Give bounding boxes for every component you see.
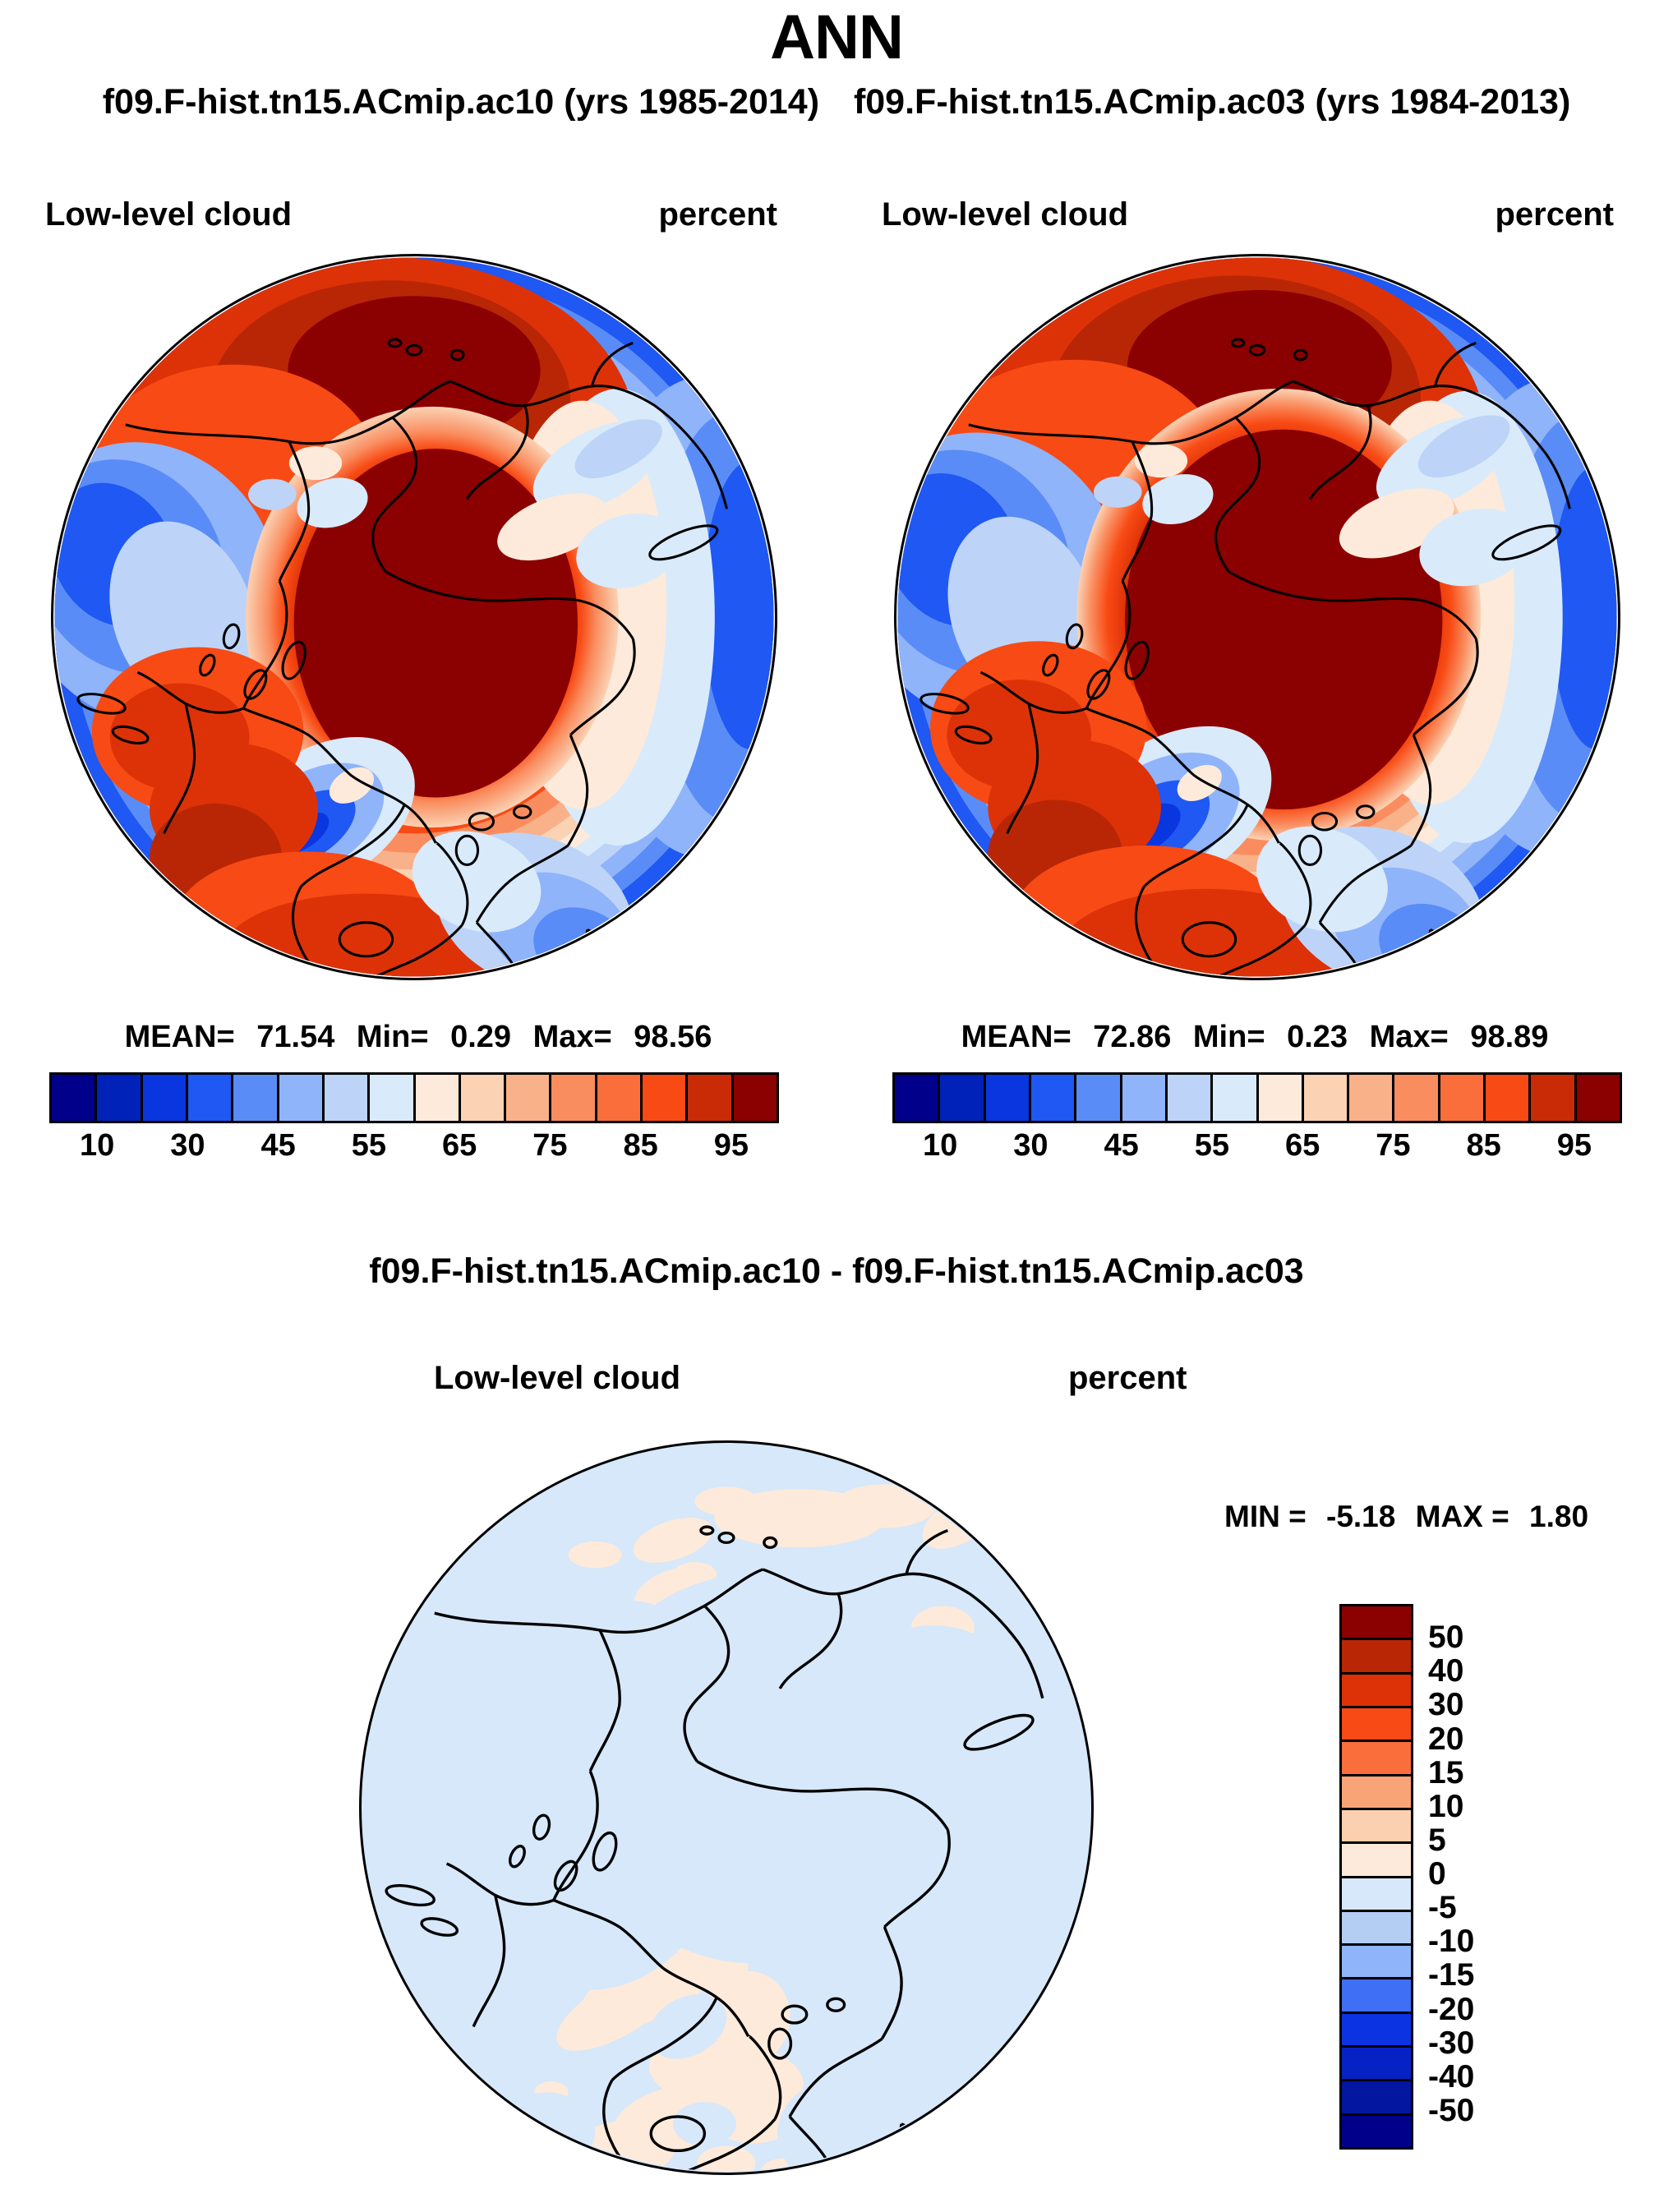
difference-header: Low-level cloud percent (0, 1360, 1673, 1409)
map-fill-difference (362, 1443, 1091, 2173)
panel-right-stats: MEAN= 72.86 Min= 0.23 Max= 98.89 (836, 1020, 1673, 1066)
colorbar-cell-11 (551, 1075, 597, 1121)
diff-colorbar-tick-20: 20 (1428, 1721, 1463, 1758)
colorbar-cell-4 (233, 1075, 279, 1121)
colorbar-cell-2 (986, 1075, 1031, 1121)
colorbar-tick-55: 55 (1195, 1128, 1229, 1164)
colorbar-cell-8 (416, 1075, 461, 1121)
diff-colorbar-cell-0 (1342, 1606, 1411, 1640)
max-value: 98.56 (634, 1020, 712, 1055)
colorbar-cell-4 (1076, 1075, 1122, 1121)
diff-colorbar-cell-6 (1342, 1810, 1411, 1844)
colorbar-tick-65: 65 (1285, 1128, 1320, 1164)
diff-colorbar-cell-8 (1342, 1878, 1411, 1912)
colorbar-cell-5 (1122, 1075, 1168, 1121)
panel-left-map-area (0, 239, 836, 1020)
colorbar-tick-95: 95 (1557, 1128, 1592, 1164)
colorbar-tick-85: 85 (623, 1128, 657, 1164)
colorbar-tick-45: 45 (260, 1128, 295, 1164)
max-label: Max= (1370, 1020, 1449, 1055)
diff-colorbar-tick-0: 0 (1428, 1856, 1446, 1892)
colorbar-cell-12 (1440, 1075, 1486, 1121)
difference-unit-label: percent (1068, 1360, 1187, 1397)
min-label: Min= (1193, 1020, 1265, 1055)
colorbar-tick-95: 95 (714, 1128, 749, 1164)
diff-colorbar-cell-5 (1342, 1777, 1411, 1810)
difference-minmax: MIN = -5.18 MAX = 1.80 (1224, 1500, 1588, 1534)
colorbar-cell-3 (188, 1075, 233, 1121)
colorbar-cell-1 (940, 1075, 985, 1121)
max-value: 98.89 (1470, 1020, 1548, 1055)
mean-label: MEAN= (961, 1020, 1072, 1055)
colorbar-cell-14 (1531, 1075, 1576, 1121)
diff-colorbar-tick--30: -30 (1428, 2025, 1474, 2062)
colorbar-cell-6 (1168, 1075, 1213, 1121)
difference-variable-label: Low-level cloud (434, 1360, 680, 1397)
diff-colorbar-tick-10: 10 (1428, 1789, 1463, 1825)
polar-map-difference[interactable] (359, 1440, 1094, 2175)
mean-label: MEAN= (125, 1020, 235, 1055)
diff-colorbar-tick-5: 5 (1428, 1823, 1446, 1859)
colorbar-cell-3 (1031, 1075, 1076, 1121)
panel-left-variable-label: Low-level cloud (45, 196, 292, 233)
colorbar-difference-ticks: 50403020151050-5-10-15-20-30-40-50 (1428, 1604, 1576, 2145)
diff-colorbar-cell-3 (1342, 1708, 1411, 1742)
colorbar-tick-45: 45 (1104, 1128, 1138, 1164)
colorbar-cell-10 (506, 1075, 551, 1121)
diff-colorbar-tick-40: 40 (1428, 1653, 1463, 1689)
difference-title: f09.F-hist.tn15.ACmip.ac10 - f09.F-hist.… (0, 1251, 1673, 1292)
colorbar-cell-7 (1213, 1075, 1258, 1121)
panel-right-header: Low-level cloud percent (836, 185, 1673, 239)
colorbar-cell-1 (97, 1075, 142, 1121)
diff-colorbar-cell-1 (1342, 1640, 1411, 1674)
case-name-left: f09.F-hist.tn15.ACmip.ac10 (yrs 1985-201… (103, 82, 819, 122)
diff-colorbar-cell-15 (1342, 2116, 1411, 2147)
panel-left-header: Low-level cloud percent (0, 185, 836, 239)
colorbar-cell-8 (1259, 1075, 1304, 1121)
colorbar-tick-30: 30 (1013, 1128, 1048, 1164)
diff-colorbar-cell-10 (1342, 1946, 1411, 1979)
difference-map-area (359, 1440, 1094, 2175)
colorbar-cell-6 (325, 1075, 370, 1121)
diff-colorbar-tick-30: 30 (1428, 1687, 1463, 1723)
diff-min-value: -5.18 (1326, 1500, 1395, 1534)
diff-max-label: MAX = (1416, 1500, 1509, 1534)
diff-colorbar-cell-4 (1342, 1742, 1411, 1776)
diff-colorbar-cell-7 (1342, 1844, 1411, 1878)
panel-left-colorbar-area: 1030455565758595 (0, 1066, 836, 1173)
colorbar-cell-14 (688, 1075, 733, 1121)
colorbar-cell-13 (1486, 1075, 1531, 1121)
colorbar-cell-11 (1394, 1075, 1440, 1121)
colorbar-tick-65: 65 (442, 1128, 477, 1164)
diff-colorbar-cell-13 (1342, 2048, 1411, 2081)
map-fill-right (896, 256, 1618, 978)
case-name-right: f09.F-hist.tn15.ACmip.ac03 (yrs 1984-201… (854, 82, 1570, 122)
colorbar-tick-30: 30 (170, 1128, 205, 1164)
panel-right-unit-label: percent (1496, 196, 1615, 233)
colorbar-tick-10: 10 (80, 1128, 114, 1164)
colorbar-tick-55: 55 (352, 1128, 386, 1164)
diff-colorbar-tick--15: -15 (1428, 1957, 1474, 1993)
diff-min-label: MIN = (1224, 1500, 1307, 1534)
diff-colorbar-tick--50: -50 (1428, 2093, 1474, 2129)
mean-value: 71.54 (256, 1020, 334, 1055)
polar-map-right-svg (896, 256, 1618, 978)
map-panel-right: Low-level cloud percent (836, 185, 1673, 1173)
diff-colorbar-cell-11 (1342, 1979, 1411, 2013)
colorbar-cell-12 (597, 1075, 643, 1121)
mean-value: 72.86 (1093, 1020, 1171, 1055)
colorbar-cell-2 (143, 1075, 188, 1121)
colorbar-cell-0 (52, 1075, 97, 1121)
colorbar-cell-10 (1349, 1075, 1394, 1121)
max-label: Max= (533, 1020, 612, 1055)
colorbar-cell-5 (279, 1075, 325, 1121)
polar-map-left[interactable] (51, 254, 777, 980)
min-value: 0.29 (450, 1020, 511, 1055)
panel-right-map-area (836, 239, 1673, 1020)
diff-colorbar-cell-9 (1342, 1912, 1411, 1946)
diff-colorbar-tick--40: -40 (1428, 2059, 1474, 2095)
diff-colorbar-tick--20: -20 (1428, 1992, 1474, 2028)
polar-map-right[interactable] (894, 254, 1620, 980)
page-title: ANN (0, 2, 1673, 73)
colorbar-cell-9 (1304, 1075, 1349, 1121)
min-label: Min= (357, 1020, 429, 1055)
colorbar-tick-85: 85 (1466, 1128, 1500, 1164)
colorbar-cell-7 (370, 1075, 415, 1121)
panel-left-unit-label: percent (659, 196, 778, 233)
diff-colorbar-tick-50: 50 (1428, 1620, 1463, 1656)
colorbar-tick-75: 75 (532, 1128, 567, 1164)
colorbar-cell-13 (643, 1075, 688, 1121)
map-panel-left: Low-level cloud percent (0, 185, 836, 1173)
diff-colorbar-cell-12 (1342, 2014, 1411, 2048)
panel-right-variable-label: Low-level cloud (882, 196, 1128, 233)
map-fill-left (53, 256, 775, 978)
diff-colorbar-tick--5: -5 (1428, 1890, 1457, 1926)
min-value: 0.23 (1287, 1020, 1348, 1055)
panel-left-stats: MEAN= 71.54 Min= 0.29 Max= 98.56 (0, 1020, 836, 1066)
colorbar-right[interactable] (892, 1072, 1622, 1123)
colorbar-left-ticks: 1030455565758595 (49, 1128, 779, 1168)
panel-right-colorbar-area: 1030455565758595 (836, 1066, 1673, 1173)
case-names-line: f09.F-hist.tn15.ACmip.ac10 (yrs 1985-201… (0, 82, 1673, 122)
colorbar-cell-15 (734, 1075, 777, 1121)
diff-colorbar-cell-2 (1342, 1675, 1411, 1708)
difference-colorbar-area: 50403020151050-5-10-15-20-30-40-50 (1339, 1604, 1586, 2179)
colorbar-tick-75: 75 (1376, 1128, 1410, 1164)
diff-colorbar-tick-15: 15 (1428, 1755, 1463, 1791)
colorbar-right-ticks: 1030455565758595 (892, 1128, 1622, 1168)
diff-colorbar-tick--10: -10 (1428, 1924, 1474, 1960)
colorbar-cell-15 (1577, 1075, 1620, 1121)
diff-max-value: 1.80 (1529, 1500, 1588, 1534)
colorbar-left[interactable] (49, 1072, 779, 1123)
polar-map-difference-svg (362, 1443, 1091, 2173)
colorbar-cell-9 (461, 1075, 506, 1121)
colorbar-difference[interactable] (1339, 1604, 1413, 2150)
polar-map-left-svg (53, 256, 775, 978)
colorbar-cell-0 (895, 1075, 940, 1121)
colorbar-tick-10: 10 (923, 1128, 957, 1164)
diff-colorbar-cell-14 (1342, 2081, 1411, 2115)
